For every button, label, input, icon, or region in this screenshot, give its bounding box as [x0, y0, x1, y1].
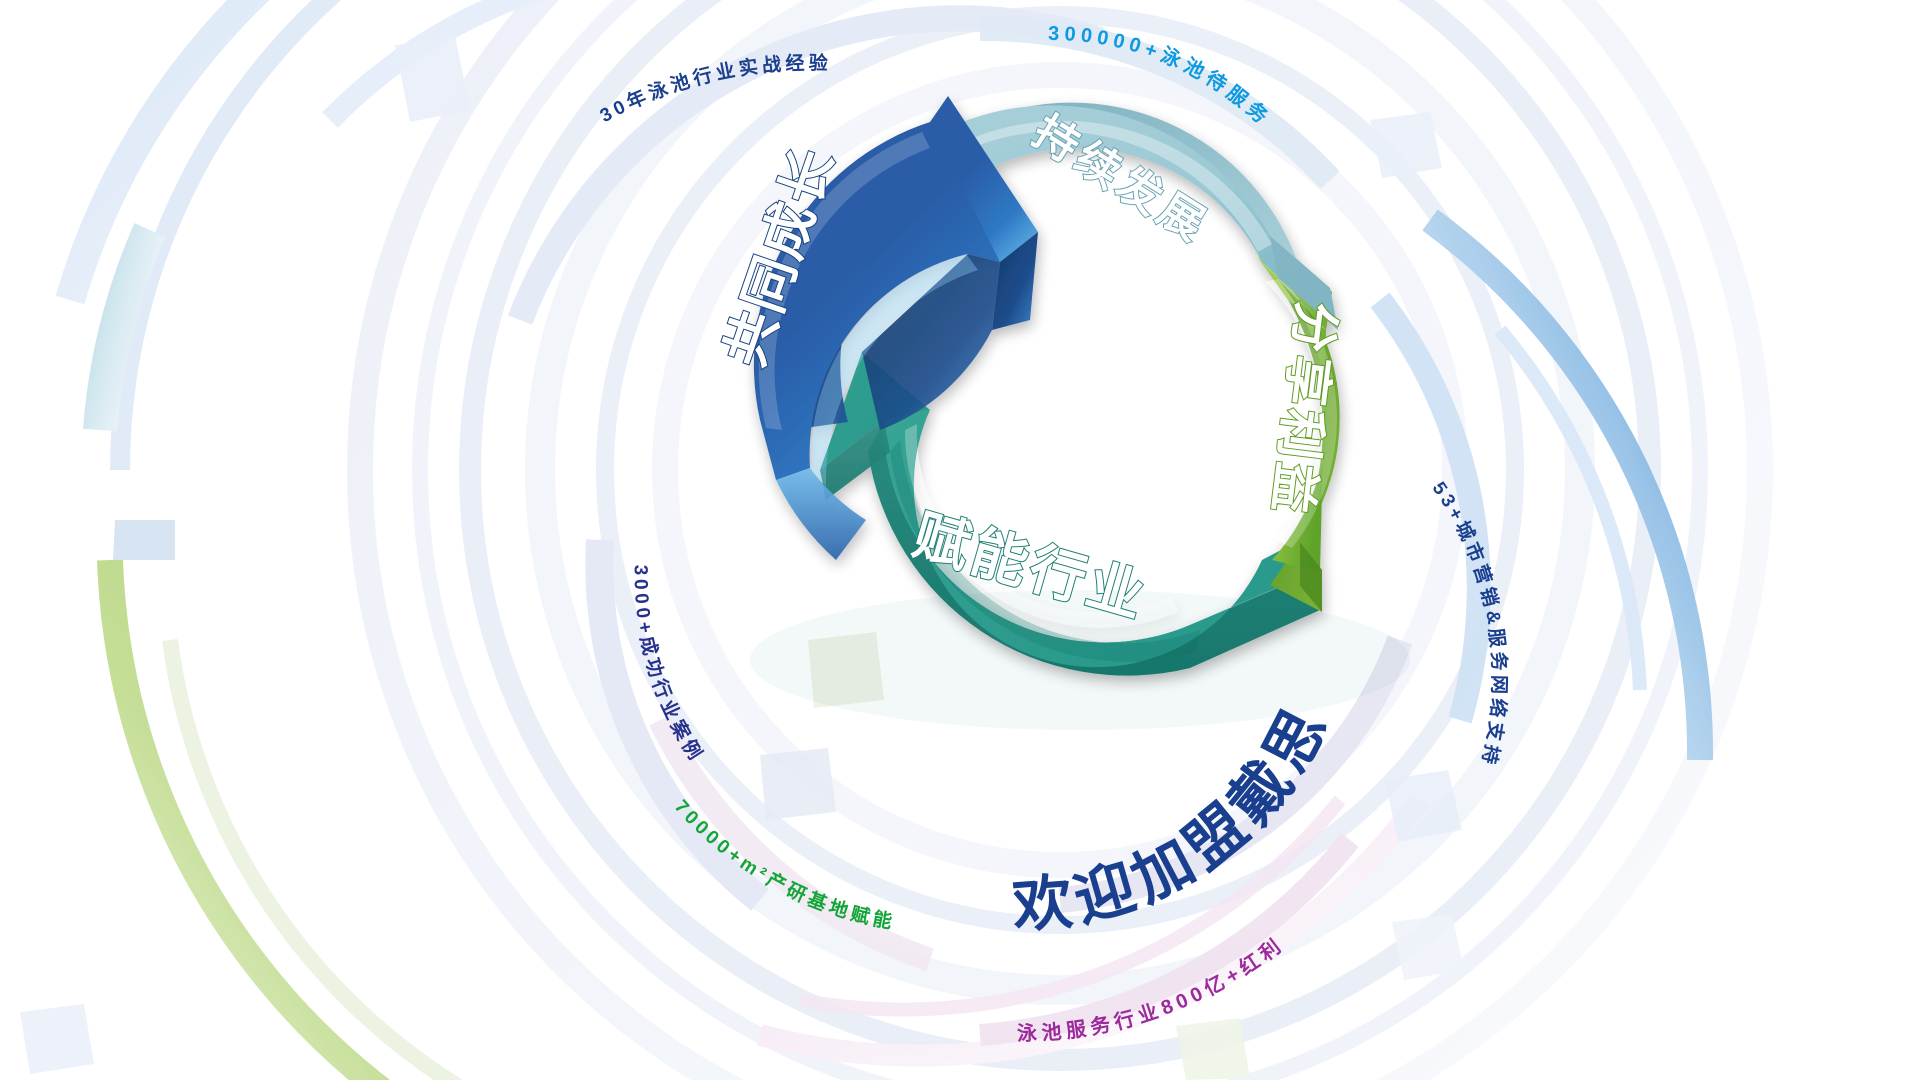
infographic-canvas: 共同成长 持续发展 分享利益 赋能行业 30年泳池行业实战经验 300000+泳… — [0, 0, 1920, 1080]
stat-label-base: 70000+m²产研基地赋能 — [670, 796, 898, 933]
stat-labels: 30年泳池行业实战经验 300000+泳池待服务 53+城市营销&服务网络支持 … — [0, 0, 1920, 1080]
stat-label-cases: 3000+成功行业案例 — [630, 565, 709, 767]
stat-label-pools: 300000+泳池待服务 — [1048, 23, 1276, 131]
stat-label-network: 53+城市营销&服务网络支持 — [1428, 478, 1511, 770]
stat-label-market: 泳池服务行业800亿+红利 — [1017, 932, 1289, 1045]
stat-label-experience: 30年泳池行业实战经验 — [597, 51, 832, 127]
headline-welcome-join: 欢迎加盟戴思乐 — [0, 0, 1342, 940]
